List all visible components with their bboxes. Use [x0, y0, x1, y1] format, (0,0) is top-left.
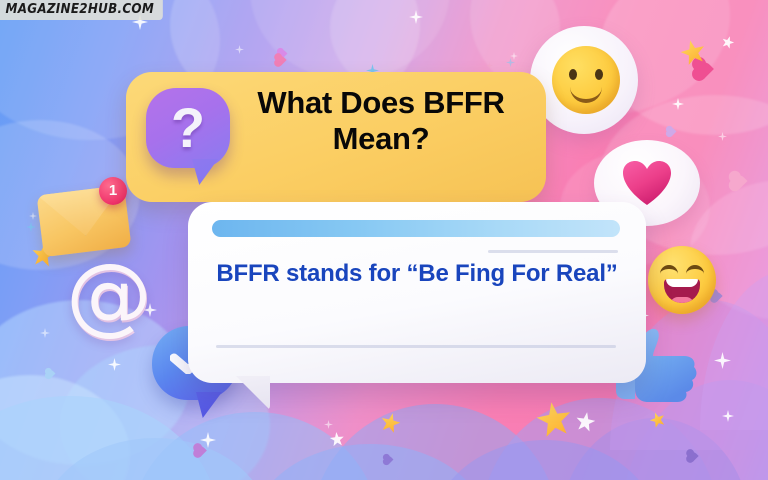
accent-bar [212, 220, 620, 237]
page-title: What Does BFFR Mean? [224, 85, 538, 158]
placeholder-line [216, 345, 616, 348]
eye-right [595, 69, 603, 80]
placeholder-line [488, 250, 618, 253]
heart-icon [622, 160, 672, 206]
question-mark-speech-bubble-icon: ? [146, 88, 230, 168]
poster-canvas: MAGAZINE2HUB.COM 1 @ What Does BFFR Mean… [0, 0, 768, 480]
at-sign-icon: @ [66, 258, 142, 334]
mail-badge: 1 [99, 177, 127, 205]
answer-card: BFFR stands for “Be Fing For Real” [188, 202, 646, 383]
mouth [570, 83, 602, 103]
eye-left [569, 69, 577, 80]
laughing-emoji [648, 246, 716, 314]
question-mark-glyph: ? [146, 92, 230, 165]
site-watermark: MAGAZINE2HUB.COM [0, 0, 163, 20]
mouth [664, 279, 700, 303]
smiley-emoji [552, 46, 620, 114]
answer-text: BFFR stands for “Be Fing For Real” [210, 258, 624, 291]
eye-left [660, 265, 678, 278]
eye-right [686, 265, 704, 278]
